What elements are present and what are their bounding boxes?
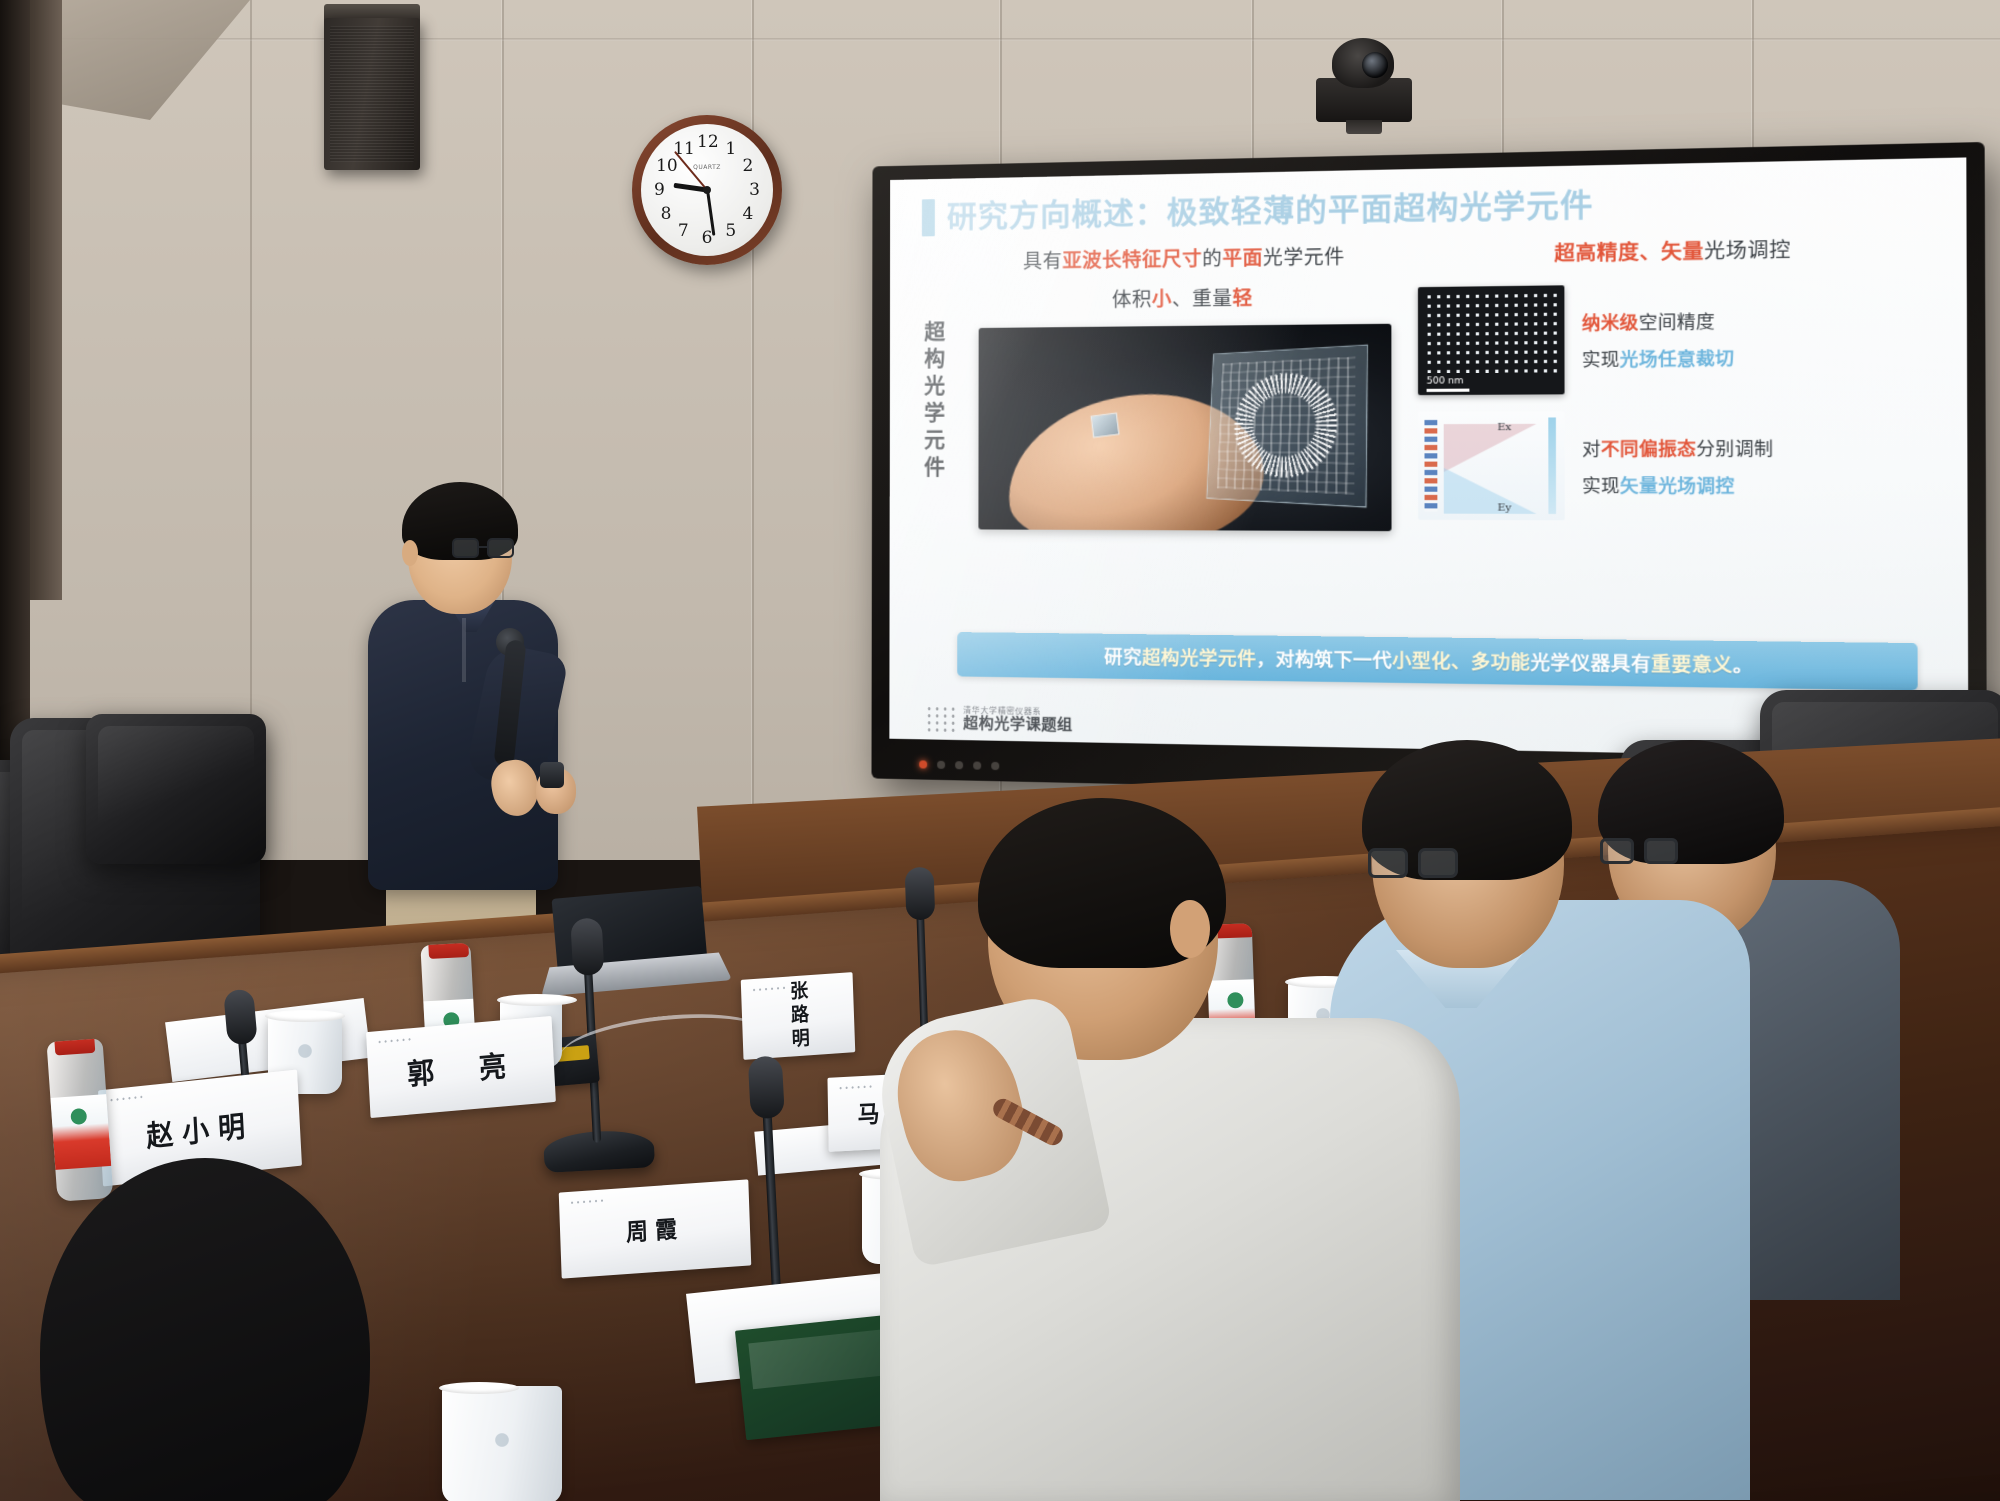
sem-dot-lattice bbox=[1424, 290, 1558, 376]
name-card-text: 郭 亮 bbox=[406, 1041, 516, 1093]
slide-title-row: 研究方向概述：极致轻薄的平面超构光学元件 bbox=[922, 179, 1946, 236]
clock-number: 9 bbox=[649, 180, 669, 200]
right-block-polarization: Ex Ey 对不同偏振态分别调制 实现矢量光场调控 bbox=[1418, 409, 1935, 521]
slide-footer: 清华大学精密仪器系 超构光学课题组 bbox=[925, 705, 1073, 734]
university-logo-icon bbox=[925, 705, 955, 732]
slide-title: 研究方向概述：极致轻薄的平面超构光学元件 bbox=[947, 186, 1594, 235]
lead-highlight-2: 平面 bbox=[1222, 247, 1263, 270]
cup-rim bbox=[497, 994, 577, 1006]
camera-head bbox=[1332, 38, 1394, 88]
presenter-placket bbox=[462, 618, 466, 682]
presenter-ear bbox=[402, 540, 418, 566]
display-control-panel[interactable] bbox=[919, 757, 1070, 774]
slide-right-column: 超高精度、矢量光场调控 500 nm bbox=[1418, 230, 1936, 630]
paper-cup bbox=[442, 1386, 562, 1501]
banner-suffix: 。 bbox=[1733, 654, 1754, 677]
display-button[interactable] bbox=[973, 761, 981, 769]
display-button[interactable] bbox=[991, 762, 999, 770]
polarization-line-2: 实现矢量光场调控 bbox=[1582, 470, 1773, 497]
pol-line2-prefix: 实现 bbox=[1582, 476, 1620, 497]
metalens-chip-small bbox=[1090, 412, 1119, 437]
precision-line2-prefix: 实现 bbox=[1582, 349, 1620, 370]
clock-number: 10 bbox=[656, 156, 676, 176]
clock-brand-text: QUARTZ bbox=[693, 164, 721, 171]
bottle-cap bbox=[53, 1038, 95, 1055]
scale-bar-label: 500 nm bbox=[1427, 376, 1470, 387]
clock-number: 3 bbox=[745, 180, 765, 200]
wall-trim-line bbox=[0, 38, 2000, 41]
microphone-capsule bbox=[223, 989, 258, 1046]
polarization-line-1: 对不同偏振态分别调制 bbox=[1582, 433, 1773, 460]
microphone-gooseneck bbox=[762, 1100, 781, 1300]
clock-number: 7 bbox=[673, 221, 693, 241]
clock-center-pin bbox=[703, 186, 711, 194]
attendee-ear bbox=[1170, 900, 1210, 958]
banner-highlight-2: 小型化、多功能 bbox=[1392, 650, 1530, 674]
clock-number: 4 bbox=[738, 204, 758, 224]
second-highlight-2: 轻 bbox=[1232, 287, 1252, 310]
cup-rim bbox=[439, 1382, 519, 1394]
microphone-capsule bbox=[748, 1056, 785, 1120]
camera-lens-icon bbox=[1362, 52, 1388, 78]
precision-line-2: 实现光场任意裁切 bbox=[1582, 343, 1735, 371]
slide-summary-banner: 研究超构光学元件，对构筑下一代小型化、多功能光学仪器具有重要意义。 bbox=[957, 632, 1918, 690]
polarization-beam-lower bbox=[1444, 467, 1537, 513]
right-heading-highlight: 超高精度、矢量 bbox=[1554, 240, 1704, 265]
sem-scale-bar: 500 nm bbox=[1427, 376, 1470, 392]
polarization-output-plane bbox=[1548, 417, 1556, 514]
banner-mid: ，对构筑下一代 bbox=[1256, 648, 1392, 672]
precision-line-1: 纳米级空间精度 bbox=[1582, 306, 1735, 334]
lead-mid: 的 bbox=[1202, 247, 1222, 270]
pol-line1-prefix: 对 bbox=[1582, 439, 1601, 460]
slide-vertical-tag: 超构光学元件 bbox=[914, 276, 954, 527]
clock-number: 8 bbox=[656, 204, 676, 224]
attendee-eyeglasses-icon bbox=[1600, 838, 1680, 868]
footer-text-group: 清华大学精密仪器系 超构光学课题组 bbox=[963, 705, 1073, 734]
name-card-text: 周霞 bbox=[625, 1210, 684, 1249]
sem-nanostructure-array-image: 500 nm bbox=[1418, 285, 1565, 395]
clock-face: 12 1 2 3 4 5 6 7 8 9 10 11 QUARTZ bbox=[641, 124, 773, 256]
slide-body: 超构光学元件 具有亚波长特征尺寸的平面光学元件 体积小、重量轻 bbox=[907, 229, 1947, 630]
display-bezel: 研究方向概述：极致轻薄的平面超构光学元件 超构光学元件 具有亚波长特征尺寸的平面… bbox=[889, 157, 1968, 759]
lead-prefix: 具有 bbox=[1023, 250, 1062, 273]
clock-number: 11 bbox=[673, 139, 693, 159]
display-button[interactable] bbox=[955, 761, 963, 769]
polarization-modulation-diagram-image: Ex Ey bbox=[1418, 411, 1565, 520]
camera-mount bbox=[1346, 120, 1382, 134]
left-lead-line: 具有亚波长特征尺寸的平面光学元件 bbox=[1023, 241, 1345, 273]
attendee-eyeglasses-icon bbox=[1368, 848, 1460, 882]
clock-number: 12 bbox=[697, 132, 717, 152]
second-highlight-1: 小 bbox=[1152, 288, 1172, 311]
office-chair bbox=[86, 714, 266, 864]
banner-text: 研究超构光学元件，对构筑下一代小型化、多功能光学仪器具有重要意义。 bbox=[1104, 642, 1753, 678]
banner-highlight-1: 超构光学元件 bbox=[1142, 647, 1256, 670]
polarization-text-group: 对不同偏振态分别调制 实现矢量光场调控 bbox=[1582, 433, 1773, 497]
presentation-slide: 研究方向概述：极致轻薄的平面超构光学元件 超构光学元件 具有亚波长特征尺寸的平面… bbox=[889, 157, 1968, 759]
name-card: 周霞 bbox=[559, 1179, 752, 1278]
scale-bar-line bbox=[1427, 388, 1470, 391]
label-ex: Ex bbox=[1497, 421, 1511, 433]
wall-speaker bbox=[324, 18, 420, 170]
conference-room-scene: 12 1 2 3 4 5 6 7 8 9 10 11 QUARTZ bbox=[0, 0, 2000, 1501]
conference-camera bbox=[1316, 38, 1412, 122]
wall-clock: 12 1 2 3 4 5 6 7 8 9 10 11 QUARTZ bbox=[632, 115, 782, 265]
water-bottle bbox=[46, 1038, 113, 1202]
label-ey: Ey bbox=[1498, 502, 1512, 514]
title-accent-bar bbox=[922, 199, 935, 236]
presentation-clicker[interactable] bbox=[540, 762, 564, 788]
banner-highlight-3: 重要意义 bbox=[1651, 653, 1733, 676]
precision-highlight: 纳米级 bbox=[1582, 312, 1639, 334]
precision-rest: 空间精度 bbox=[1639, 311, 1715, 333]
pol-line1-highlight: 不同偏振态 bbox=[1601, 439, 1696, 460]
left-second-line: 体积小、重量轻 bbox=[1112, 283, 1253, 312]
display-power-indicator bbox=[919, 760, 927, 768]
slide-left-column: 具有亚波长特征尺寸的平面光学元件 体积小、重量轻 bbox=[963, 238, 1407, 624]
lead-highlight: 亚波长特征尺寸 bbox=[1062, 248, 1202, 272]
name-card: 郭 亮 bbox=[366, 1016, 556, 1118]
second-prefix: 体积 bbox=[1112, 288, 1152, 311]
pol-line1-suffix: 分别调制 bbox=[1696, 438, 1773, 459]
lead-suffix: 光学元件 bbox=[1263, 245, 1345, 269]
presenter-eyeglasses-icon bbox=[452, 538, 518, 560]
footer-org-main: 超构光学课题组 bbox=[963, 715, 1073, 734]
pol-line2-highlight: 矢量光场调控 bbox=[1620, 476, 1735, 497]
right-heading-rest: 光场调控 bbox=[1704, 238, 1791, 263]
metalens-chip-enlarged bbox=[1206, 344, 1368, 507]
bottle-label bbox=[50, 1094, 111, 1170]
metalens-on-finger-photo bbox=[978, 323, 1391, 530]
microphone-capsule bbox=[905, 867, 936, 921]
clock-number: 5 bbox=[721, 221, 741, 241]
banner-mid-2: 光学仪器具有 bbox=[1530, 652, 1651, 676]
bottle-cap bbox=[428, 943, 469, 959]
clock-number: 2 bbox=[738, 156, 758, 176]
name-card-text: 赵小明 bbox=[145, 1101, 255, 1154]
precision-line2-highlight: 光场任意裁切 bbox=[1620, 348, 1735, 370]
right-heading: 超高精度、矢量光场调控 bbox=[1418, 232, 1935, 268]
right-block-precision: 500 nm 纳米级空间精度 实现光场任意裁切 bbox=[1418, 280, 1935, 395]
polarization-metasurface-strip bbox=[1424, 419, 1437, 511]
precision-text-group: 纳米级空间精度 实现光场任意裁切 bbox=[1582, 306, 1735, 371]
second-mid: 、重量 bbox=[1172, 287, 1233, 310]
banner-prefix: 研究 bbox=[1104, 647, 1142, 669]
microphone-capsule bbox=[570, 917, 604, 976]
display-button[interactable] bbox=[937, 761, 945, 769]
polarization-beam-upper bbox=[1444, 423, 1537, 471]
